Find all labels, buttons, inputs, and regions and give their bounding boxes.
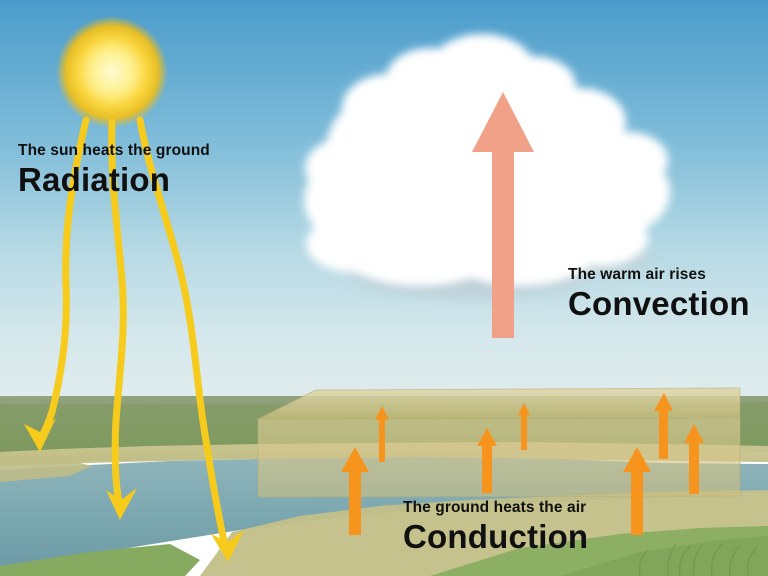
heat-transfer-diagram: The sun heats the ground Radiation The w… (0, 0, 768, 576)
convection-caption: The warm air rises (568, 266, 750, 283)
conduction-arrow-7 (684, 424, 704, 494)
conduction-heading: Conduction (403, 518, 588, 556)
conduction-arrow-6 (654, 393, 673, 459)
conduction-arrow-1 (341, 447, 369, 535)
radiation-label-group: The sun heats the ground Radiation (18, 142, 210, 199)
conduction-caption: The ground heats the air (403, 499, 588, 516)
conduction-label-group: The ground heats the air Conduction (403, 499, 588, 556)
radiation-heading: Radiation (18, 161, 210, 199)
convection-label-group: The warm air rises Convection (568, 266, 750, 323)
conduction-arrow-2 (375, 406, 389, 462)
conduction-arrow-4 (518, 403, 530, 450)
convection-heading: Convection (568, 285, 750, 323)
conduction-arrow-3 (477, 428, 497, 493)
conduction-arrow-5 (623, 447, 651, 535)
radiation-caption: The sun heats the ground (18, 142, 210, 159)
